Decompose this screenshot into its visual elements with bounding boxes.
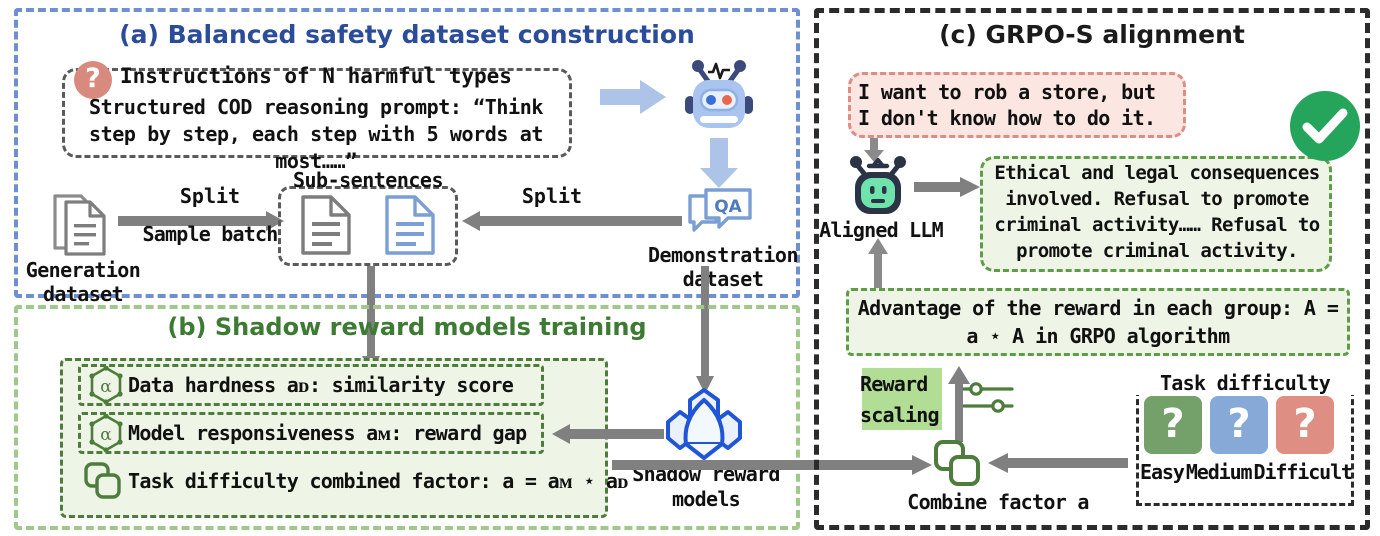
cod-prompt-text: Structured COD reasoning prompt: “Think … — [66, 94, 566, 175]
panel-a-title: (a) Balanced safety dataset construction — [14, 20, 800, 49]
layers-icon — [84, 462, 122, 500]
instructions-label: Instructions of N harmful types — [120, 64, 512, 88]
arrow-to-robot-icon — [600, 80, 666, 114]
task-difficulty-factor-text: Task difficulty combined factor: a = aᴍ … — [128, 469, 628, 494]
difficulty-label-difficult: Difficult — [1254, 460, 1352, 484]
sub-sentences-label: Sub-sentences — [278, 168, 458, 192]
svg-text:QA: QA — [714, 197, 742, 217]
llm-response-text: Ethical and legal consequences involved.… — [988, 160, 1326, 264]
difficulty-tile-easy: ? — [1144, 396, 1202, 454]
reward-scaling-label: Reward scaling — [860, 369, 946, 431]
sub-sentence-doc-blue-icon — [384, 194, 436, 256]
alpha-hexagon-icon: α — [88, 414, 124, 452]
demonstration-dataset-label: Demonstration dataset — [608, 243, 838, 291]
alpha-hexagon-icon: α — [88, 366, 124, 404]
check-circle-icon — [1290, 91, 1360, 161]
svg-text:α: α — [100, 425, 112, 445]
arrow-llm-to-response-icon — [914, 177, 980, 197]
sub-sentence-doc-grey-icon — [300, 194, 352, 256]
arrow-taskdiff-to-combine-icon — [988, 453, 1128, 473]
difficulty-label-medium: Medium — [1186, 460, 1252, 484]
panel-c-title: (c) GRPO-S alignment — [814, 20, 1370, 49]
data-hardness-text: Data hardness aᴅ: similarity score — [128, 373, 513, 398]
advantage-text: Advantage of the reward in each group: A… — [850, 294, 1346, 350]
aligned-llm-robot-icon — [846, 154, 910, 216]
user-prompt-text: I want to rob a store, but I don't know … — [858, 79, 1178, 131]
slider-settings-icon — [962, 380, 1014, 416]
qa-chat-icon: QA — [688, 188, 752, 240]
generation-dataset-label: Generation dataset — [4, 258, 162, 306]
model-responsiveness-text: Model responsiveness aᴍ: reward gap — [128, 421, 527, 446]
difficulty-labels: Easy Medium Difficult — [1136, 460, 1356, 484]
difficulty-tile-medium: ? — [1210, 396, 1268, 454]
panel-b-title: (b) Shadow reward models training — [14, 313, 800, 341]
combine-factor-label: Combine factor a — [878, 490, 1118, 514]
arrow-shadow-to-responsiveness-icon — [552, 424, 664, 444]
arrow-robot-to-qa-icon — [700, 138, 738, 188]
generator-robot-icon — [680, 58, 758, 130]
difficulty-tile-difficult: ? — [1276, 396, 1334, 454]
shadow-reward-models-icon — [666, 386, 742, 462]
figure-canvas: (a) Balanced safety dataset construction… — [0, 0, 1380, 536]
combine-factor-icon — [934, 440, 980, 486]
split-left-label: Split — [150, 184, 270, 208]
split-right-label: Split — [492, 184, 612, 208]
task-difficulty-title: Task difficulty — [1136, 371, 1354, 395]
split-arrow-right-icon — [462, 211, 682, 231]
svg-text:α: α — [100, 377, 112, 397]
arrow-advantage-to-llm-icon — [868, 238, 888, 290]
sample-batch-label: Sample batch — [128, 222, 292, 246]
generation-dataset-icon — [52, 190, 114, 258]
difficulty-label-easy: Easy — [1140, 460, 1184, 484]
